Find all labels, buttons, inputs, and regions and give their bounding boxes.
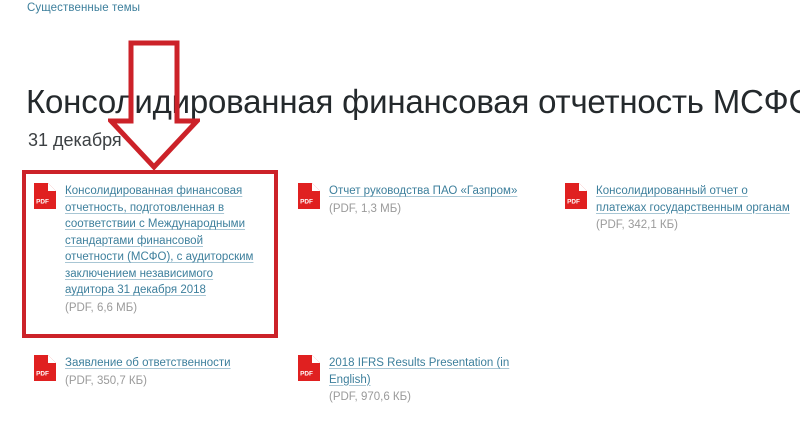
document-link[interactable]: Заявление об ответственности [65,355,231,372]
document-text: Заявление об ответственности (PDF, 350,7… [65,354,231,389]
document-text: Консолидированная финансовая отчетность,… [65,182,264,316]
document-link[interactable]: Отчет руководства ПАО «Газпром» [329,183,517,200]
breadcrumb-link-material-topics[interactable]: Существенные темы [27,2,140,14]
page-title: Консолидированная финансовая отчетность … [26,84,800,120]
pdf-icon: PDF [34,355,56,381]
document-item[interactable]: PDF 2018 IFRS Results Presentation (in E… [298,354,543,406]
document-link[interactable]: Консолидированная финансовая отчетность,… [65,183,264,299]
page-subtitle-date: 31 декабря [28,130,122,151]
document-item[interactable]: PDF Заявление об ответственности (PDF, 3… [34,354,264,389]
svg-text:PDF: PDF [300,371,313,378]
document-filesize: (PDF, 342,1 КБ) [596,217,795,234]
documents-row-2: PDF Заявление об ответственности (PDF, 3… [0,354,800,434]
document-filesize: (PDF, 6,6 МБ) [65,300,264,317]
documents-grid: PDF Консолидированная финансовая отчетно… [0,182,800,434]
document-text: Консолидированный отчет о платежах госуд… [596,182,795,234]
document-filesize: (PDF, 350,7 КБ) [65,373,231,390]
document-filesize: (PDF, 970,6 КБ) [329,389,543,406]
document-filesize: (PDF, 1,3 МБ) [329,201,517,218]
pdf-icon: PDF [298,183,320,209]
pdf-icon: PDF [34,183,56,209]
document-link[interactable]: Консолидированный отчет о платежах госуд… [596,183,795,216]
svg-text:PDF: PDF [36,199,49,206]
document-item[interactable]: PDF Консолидированный отчет о платежах г… [565,182,795,234]
svg-text:PDF: PDF [567,199,580,206]
pdf-icon: PDF [565,183,587,209]
document-text: Отчет руководства ПАО «Газпром» (PDF, 1,… [329,182,517,217]
svg-text:PDF: PDF [300,199,313,206]
documents-row-1: PDF Консолидированная финансовая отчетно… [0,182,800,354]
document-item[interactable]: PDF Отчет руководства ПАО «Газпром» (PDF… [298,182,543,217]
svg-text:PDF: PDF [36,371,49,378]
document-link[interactable]: 2018 IFRS Results Presentation (in Engli… [329,355,543,388]
pdf-icon: PDF [298,355,320,381]
document-item[interactable]: PDF Консолидированная финансовая отчетно… [34,182,264,316]
document-text: 2018 IFRS Results Presentation (in Engli… [329,354,543,406]
